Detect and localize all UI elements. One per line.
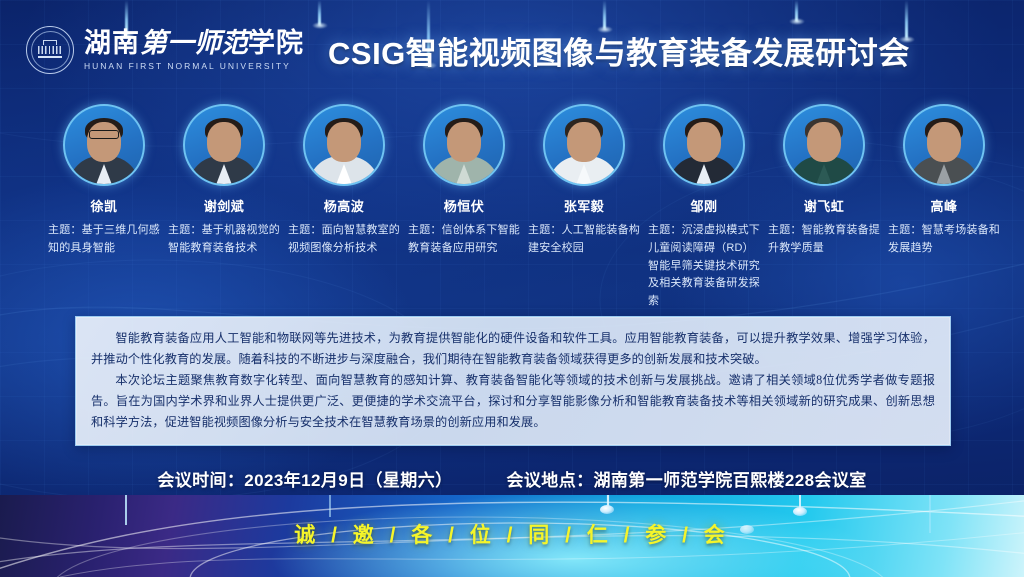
speaker-card: 杨恒伏 主题：信创体系下智能教育装备应用研究 <box>408 104 520 304</box>
description-paragraph-1: 智能教育装备应用人工智能和物联网等先进技术，为教育提供智能化的硬件设备和软件工具… <box>91 328 935 370</box>
speaker-card: 谢飞虹 主题：智能教育装备提升教学质量 <box>768 104 880 304</box>
speaker-list: 徐凯 主题：基于三维几何感知的具身智能 谢剑斌 主题：基于机器视觉的智能教育装备… <box>0 104 1024 304</box>
avatar <box>423 104 505 186</box>
meeting-time: 会议时间：2023年12月9日（星期六） <box>157 466 452 491</box>
speaker-name: 杨高波 <box>288 196 400 215</box>
speaker-topic: 主题：信创体系下智能教育装备应用研究 <box>408 222 520 258</box>
poster-header: 湖南第一师范学院 HUNAN FIRST NORMAL UNIVERSITY C… <box>0 0 1024 100</box>
speaker-topic: 主题：人工智能装备构建安全校园 <box>528 222 640 258</box>
university-logo: 湖南第一师范学院 HUNAN FIRST NORMAL UNIVERSITY <box>26 26 304 74</box>
speaker-card: 邹刚 主题：沉浸虚拟模式下儿童阅读障碍（RD）智能早筛关键技术研究及相关教育装备… <box>648 104 760 304</box>
avatar <box>663 104 745 186</box>
speaker-name: 张军毅 <box>528 196 640 215</box>
university-name-cn-script: 第一师范 <box>140 28 248 58</box>
banner-light-dot <box>793 507 807 516</box>
avatar <box>783 104 865 186</box>
university-seal-icon <box>26 26 74 74</box>
avatar <box>903 104 985 186</box>
university-name-cn: 湖南第一师范学院 <box>84 29 304 57</box>
speaker-name: 杨恒伏 <box>408 196 520 215</box>
description-paragraph-2: 本次论坛主题聚焦教育数字化转型、面向智慧教育的感知计算、教育装备智能化等领域的技… <box>91 370 935 433</box>
speaker-card: 谢剑斌 主题：基于机器视觉的智能教育装备技术 <box>168 104 280 304</box>
speaker-topic: 主题：智慧考场装备和发展趋势 <box>888 222 1000 258</box>
speaker-topic: 主题：沉浸虚拟模式下儿童阅读障碍（RD）智能早筛关键技术研究及相关教育装备研发探… <box>648 222 760 311</box>
avatar <box>183 104 265 186</box>
page-title: CSIG智能视频图像与教育装备发展研讨会 <box>328 28 910 73</box>
avatar <box>543 104 625 186</box>
banner-light-dot <box>600 505 614 514</box>
speaker-name: 谢剑斌 <box>168 196 280 215</box>
avatar <box>303 104 385 186</box>
meeting-place: 会议地点：湖南第一师范学院百熙楼228会议室 <box>507 466 867 491</box>
invite-slogan: 诚 / 邀 / 各 / 位 / 同 / 仁 / 参 / 会 <box>0 519 1024 549</box>
speaker-topic: 主题：面向智慧教室的视频图像分析技术 <box>288 222 400 258</box>
speaker-topic: 主题：智能教育装备提升教学质量 <box>768 222 880 258</box>
university-name-en: HUNAN FIRST NORMAL UNIVERSITY <box>84 61 304 71</box>
conference-poster: 湖南第一师范学院 HUNAN FIRST NORMAL UNIVERSITY C… <box>0 0 1024 577</box>
speaker-card: 徐凯 主题：基于三维几何感知的具身智能 <box>48 104 160 304</box>
bottom-banner: 诚 / 邀 / 各 / 位 / 同 / 仁 / 参 / 会 <box>0 495 1024 577</box>
speaker-card: 张军毅 主题：人工智能装备构建安全校园 <box>528 104 640 304</box>
speaker-name: 谢飞虹 <box>768 196 880 215</box>
speaker-topic: 主题：基于三维几何感知的具身智能 <box>48 222 160 258</box>
avatar <box>63 104 145 186</box>
description-panel: 智能教育装备应用人工智能和物联网等先进技术，为教育提供智能化的硬件设备和软件工具… <box>75 316 951 446</box>
meeting-info: 会议时间：2023年12月9日（星期六） 会议地点：湖南第一师范学院百熙楼228… <box>0 458 1024 498</box>
speaker-name: 徐凯 <box>48 196 160 215</box>
speaker-name: 邹刚 <box>648 196 760 215</box>
university-name-cn-part1: 湖南 <box>84 28 140 58</box>
speaker-topic: 主题：基于机器视觉的智能教育装备技术 <box>168 222 280 258</box>
university-name-block: 湖南第一师范学院 HUNAN FIRST NORMAL UNIVERSITY <box>84 29 304 70</box>
seal-building-icon <box>38 43 62 58</box>
speaker-card: 杨高波 主题：面向智慧教室的视频图像分析技术 <box>288 104 400 304</box>
university-name-cn-part2: 学院 <box>248 28 304 58</box>
speaker-card: 高峰 主题：智慧考场装备和发展趋势 <box>888 104 1000 304</box>
speaker-name: 高峰 <box>888 196 1000 215</box>
